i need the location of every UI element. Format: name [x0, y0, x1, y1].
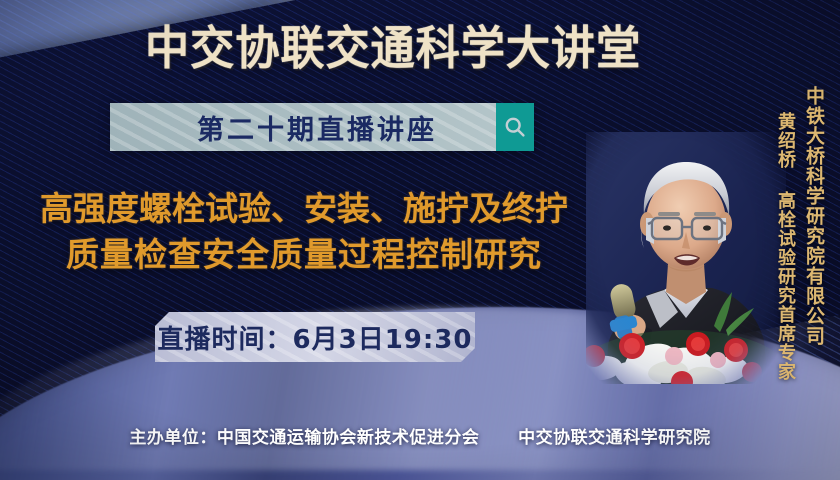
speaker-photo: [586, 132, 786, 384]
speaker-name-title: 黄绍桥 高栓试验研究首席专家: [772, 112, 798, 381]
lecture-topic-line2: 质量检查安全质量过程控制研究: [8, 232, 600, 278]
lecture-topic-line1: 高强度螺栓试验、安装、施拧及终拧: [8, 186, 600, 232]
organizer-primary: 主办单位：中国交通运输协会新技术促进分会: [129, 428, 479, 448]
organizer-footer: 主办单位：中国交通运输协会新技术促进分会 中交协联交通科学研究院: [0, 423, 840, 448]
organizer-secondary: 中交协联交通科学研究院: [518, 428, 711, 448]
search-icon: [503, 115, 527, 139]
search-button[interactable]: [496, 103, 534, 151]
broadcast-time-label: 直播时间：6月3日19:30: [158, 319, 473, 356]
episode-label: 第二十期直播讲座: [139, 108, 467, 147]
broadcast-time-badge: 直播时间：6月3日19:30: [155, 312, 475, 362]
page-title: 中交协联交通科学大讲堂: [17, 20, 823, 76]
speaker-organization: 中铁大桥科学研究院有限公司: [801, 86, 828, 346]
lecture-topic: 高强度螺栓试验、安装、施拧及终拧 质量检查安全质量过程控制研究: [8, 186, 600, 278]
episode-bar: 第二十期直播讲座: [110, 103, 534, 151]
live-lecture-poster: 中交协联交通科学大讲堂 第二十期直播讲座 高强度螺栓试验、安装、施拧及终拧 质量…: [0, 0, 840, 480]
episode-bar-body: 第二十期直播讲座: [110, 103, 496, 151]
